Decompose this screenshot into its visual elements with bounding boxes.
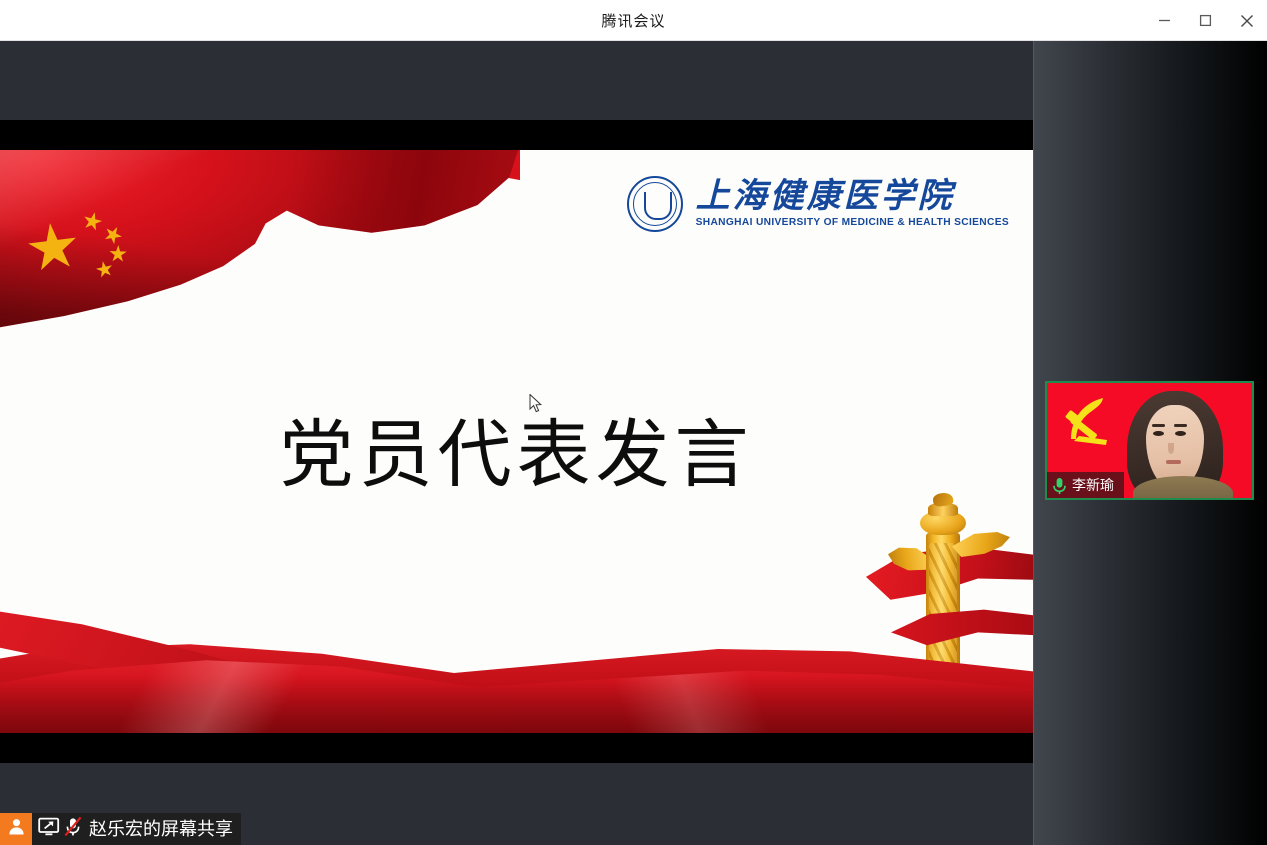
university-seal-icon <box>627 176 683 232</box>
meeting-body: 上海健康医学院 SHANGHAI UNIVERSITY OF MEDICINE … <box>0 41 1267 845</box>
letterbox-top <box>0 120 1033 150</box>
screen-share-banner-body: 赵乐宏的屏幕共享 <box>32 813 241 845</box>
minimize-button[interactable] <box>1144 0 1185 41</box>
participant-webcam-image <box>1119 391 1231 500</box>
presentation-slide: 上海健康医学院 SHANGHAI UNIVERSITY OF MEDICINE … <box>0 150 1033 733</box>
share-gutter-top <box>0 41 1033 120</box>
maximize-button[interactable] <box>1185 0 1226 41</box>
title-bar: 腾讯会议 <box>0 0 1267 41</box>
participant-video-tile[interactable]: 李新瑜 <box>1045 381 1254 500</box>
university-name-english: SHANGHAI UNIVERSITY OF MEDICINE & HEALTH… <box>696 218 1009 228</box>
maximize-icon <box>1199 14 1212 27</box>
presenter-avatar <box>0 813 32 845</box>
microphone-muted-icon <box>63 816 83 842</box>
screen-share-banner: 赵乐宏的屏幕共享 <box>0 813 241 845</box>
university-logo-text: 上海健康医学院 SHANGHAI UNIVERSITY OF MEDICINE … <box>696 179 1009 228</box>
screen-share-icon <box>38 817 60 841</box>
participants-sidebar[interactable]: 李新瑜 <box>1033 41 1267 845</box>
red-silk-waves <box>0 573 1033 733</box>
participant-name: 李新瑜 <box>1072 478 1114 492</box>
person-icon <box>7 817 26 841</box>
minimize-icon <box>1158 14 1171 27</box>
window-controls <box>1144 0 1267 41</box>
window-title: 腾讯会议 <box>601 10 665 31</box>
close-icon <box>1240 14 1254 28</box>
shared-screen-stream[interactable]: 上海健康医学院 SHANGHAI UNIVERSITY OF MEDICINE … <box>0 120 1033 763</box>
mouse-pointer-icon <box>529 394 542 413</box>
hammer-and-sickle-icon <box>1061 391 1119 449</box>
shared-screen-region[interactable]: 上海健康医学院 SHANGHAI UNIVERSITY OF MEDICINE … <box>0 41 1033 845</box>
close-button[interactable] <box>1226 0 1267 41</box>
university-logo: 上海健康医学院 SHANGHAI UNIVERSITY OF MEDICINE … <box>627 176 1009 232</box>
screen-share-banner-text: 赵乐宏的屏幕共享 <box>89 820 233 838</box>
participant-name-label: 李新瑜 <box>1047 472 1124 498</box>
chinese-national-flag-icon <box>0 150 520 329</box>
letterbox-bottom <box>0 733 1033 763</box>
microphone-on-icon <box>1051 476 1068 495</box>
tencent-meeting-window: 腾讯会议 <box>0 0 1267 845</box>
slide-title: 党员代表发言 <box>0 395 1033 502</box>
university-name-chinese: 上海健康医学院 <box>696 179 1009 213</box>
